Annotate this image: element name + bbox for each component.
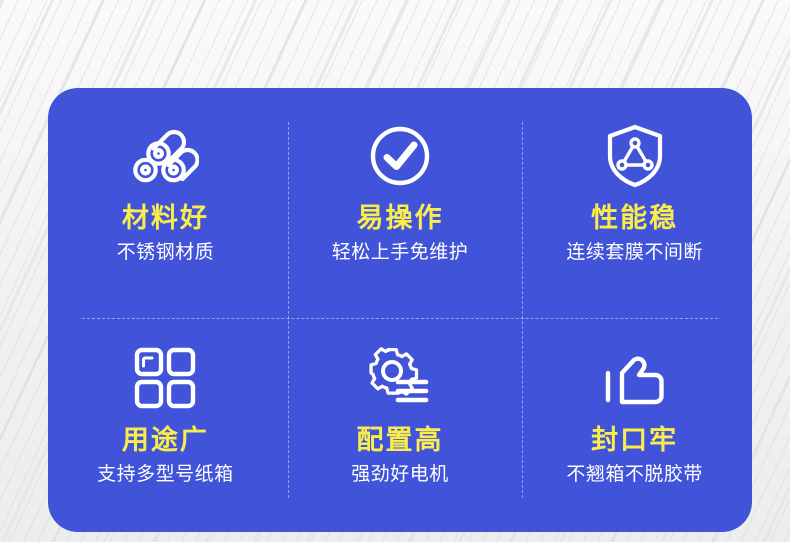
feature-title: 封口牢 [591,426,678,456]
feature-title: 用途广 [122,426,209,456]
thumbs-up-icon [598,344,672,412]
feature-title: 性能稳 [591,204,678,234]
shield-network-icon [598,122,672,190]
feature-title: 易操作 [356,204,443,234]
feature-title: 材料好 [122,204,209,234]
feature-cell-5[interactable]: 配置高 强劲好电机 [283,310,518,532]
page-root: 材料好 不锈钢材质 易操作 轻松上手免维护 [0,0,790,542]
feature-title: 配置高 [356,426,443,456]
feature-subtitle: 不翘箱不脱胶带 [566,465,703,486]
grid-squares-icon [128,344,202,412]
check-circle-icon [363,122,437,190]
feature-subtitle: 连续套膜不间断 [566,243,703,264]
feature-subtitle: 强劲好电机 [351,465,449,486]
feature-cell-1[interactable]: 材料好 不锈钢材质 [48,88,283,310]
feature-cell-3[interactable]: 性能稳 连续套膜不间断 [517,88,752,310]
gear-settings-icon [363,344,437,412]
feature-cell-2[interactable]: 易操作 轻松上手免维护 [283,88,518,310]
feature-subtitle: 轻松上手免维护 [332,243,469,264]
feature-subtitle: 不锈钢材质 [117,243,215,264]
feature-cell-4[interactable]: 用途广 支持多型号纸箱 [48,310,283,532]
paper-rolls-icon [128,122,202,190]
feature-subtitle: 支持多型号纸箱 [97,465,234,486]
feature-card: 材料好 不锈钢材质 易操作 轻松上手免维护 [48,88,752,532]
feature-cell-6[interactable]: 封口牢 不翘箱不脱胶带 [517,310,752,532]
